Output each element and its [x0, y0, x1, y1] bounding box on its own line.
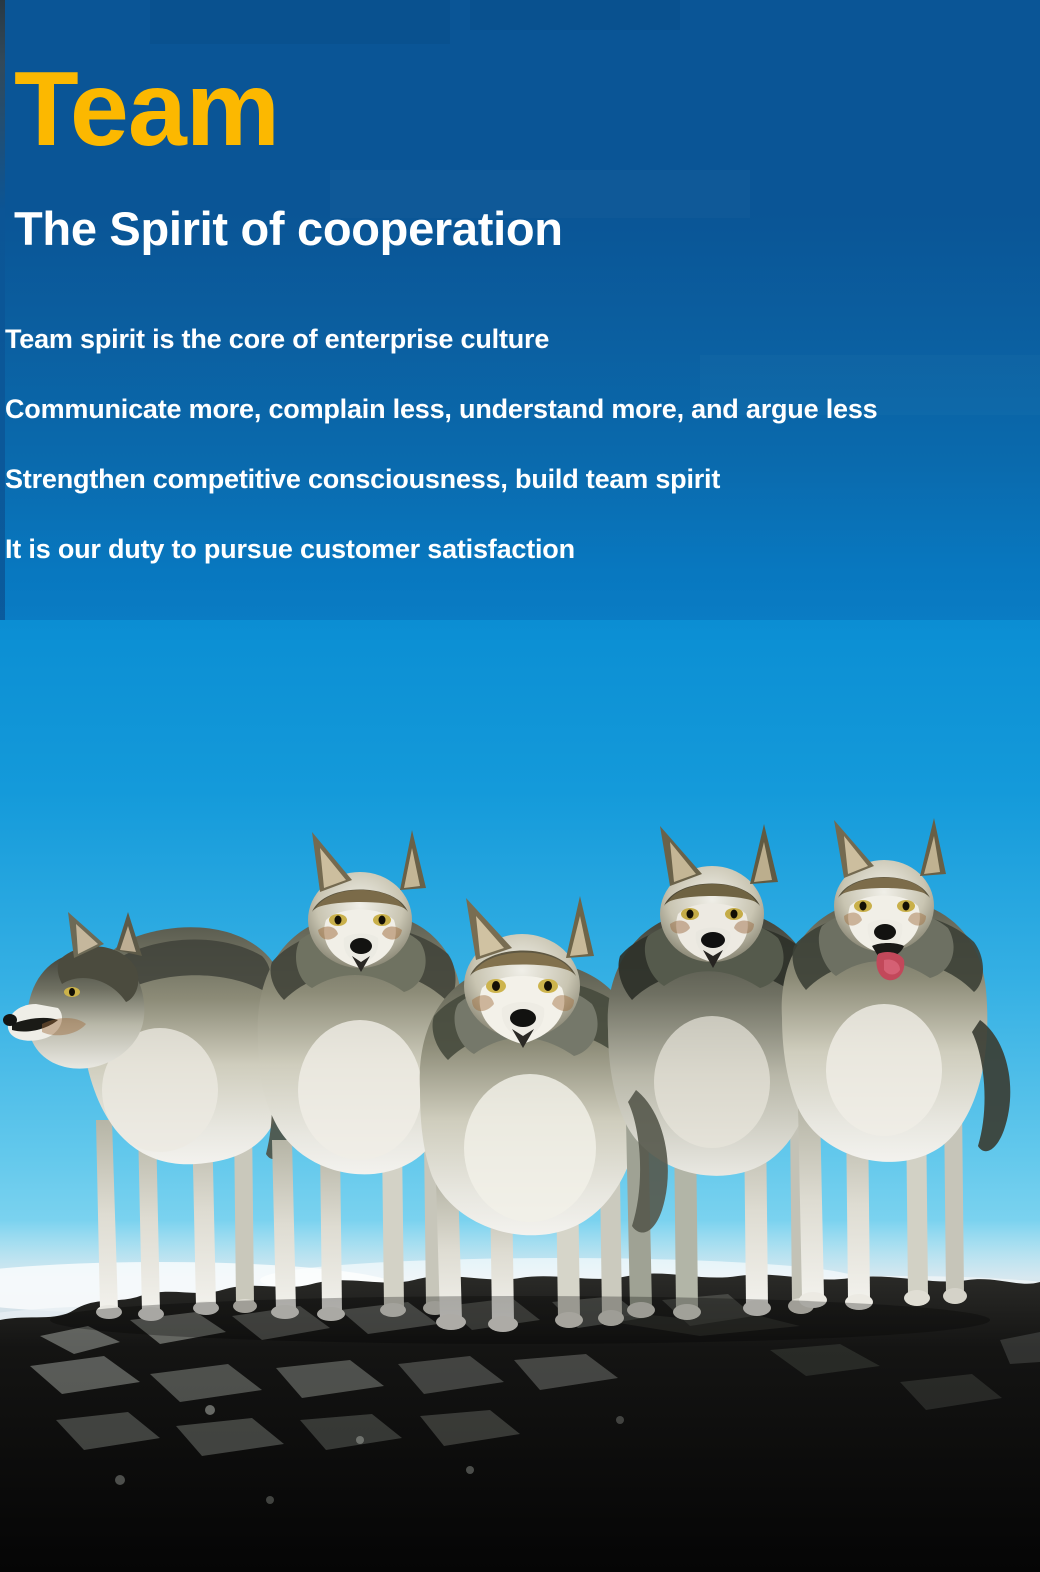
header-texture-blotch [470, 0, 680, 30]
header-texture-blotch [150, 0, 450, 44]
bullet-line: Strengthen competitive consciousness, bu… [5, 466, 1040, 493]
bullet-line: Team spirit is the core of enterprise cu… [5, 326, 1040, 353]
page-subtitle: The Spirit of cooperation [14, 205, 563, 252]
bullet-list: Team spirit is the core of enterprise cu… [5, 326, 1040, 563]
wolf-pack-illustration [0, 620, 1040, 1572]
header-band: Team The Spirit of cooperation Team spir… [0, 0, 1040, 624]
bullet-line: It is our duty to pursue customer satisf… [5, 536, 1040, 563]
bullet-line: Communicate more, complain less, underst… [5, 396, 1040, 423]
wolf-pack-photo [0, 620, 1040, 1572]
ground-shadow [50, 1296, 990, 1344]
poster-root: Team The Spirit of cooperation Team spir… [0, 0, 1040, 1572]
page-title: Team [14, 56, 279, 162]
